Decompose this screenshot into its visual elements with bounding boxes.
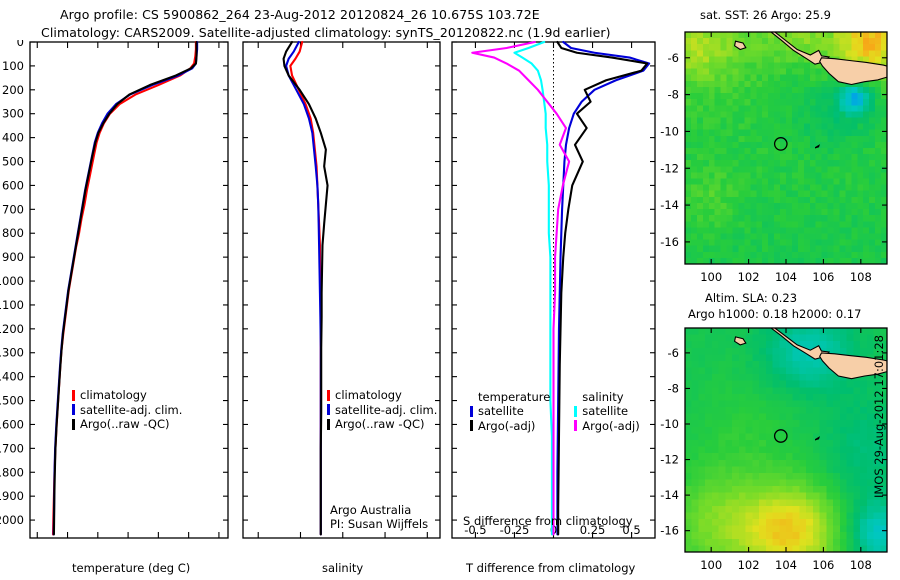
legend-item: satellite-adj. clim. [72,403,182,418]
map-cell [697,221,704,228]
map-cell [746,433,753,440]
map-cell [804,148,811,155]
map-cell [721,69,728,76]
map-cell [810,154,817,161]
map-cell [773,361,780,368]
map-cell [759,499,766,506]
map-cell [712,354,719,361]
map-cell [697,32,704,39]
map-cell [863,160,870,167]
map-cell [860,440,867,447]
map-cell [752,368,759,375]
map-cell [779,499,786,506]
map-cell [833,381,840,388]
map-cell [773,512,780,519]
map-cell [685,172,692,179]
map-cell [750,172,757,179]
map-cell [768,124,775,131]
map-cell [685,539,692,546]
map-cell [840,532,847,539]
map-cell [851,252,858,259]
map-cell [705,480,712,487]
map-cell [691,160,698,167]
map-cell [721,166,728,173]
map-cell [853,387,860,394]
map-cell [698,341,705,348]
map-cell [853,433,860,440]
map-cell [715,179,722,186]
map-cell [839,191,846,198]
map-cell [828,154,835,161]
map-cell [860,493,867,500]
map-cell [766,499,773,506]
map-cell [712,480,719,487]
map-cell [709,117,716,124]
map-cell [756,252,763,259]
map-cell [766,361,773,368]
map-cell [756,105,763,112]
map-cell [804,246,811,253]
map-cell [709,252,716,259]
map-cell [833,433,840,440]
map-cell [732,473,739,480]
map-cell [727,111,734,118]
map-cell [705,440,712,447]
map-cell [826,512,833,519]
map-cell [845,209,852,216]
map-cell [860,427,867,434]
map-cell [750,166,757,173]
map-cell [847,466,854,473]
map-cell [697,99,704,106]
map-cell [810,227,817,234]
map-cell [840,420,847,427]
map-cell [853,440,860,447]
map-cell [820,374,827,381]
map-cell [813,381,820,388]
map-cell [828,117,835,124]
map-cell [762,117,769,124]
legend-group-temperature: temperature satellite Argo(-adj) [470,390,550,433]
map-cell [833,493,840,500]
map-cell [727,240,734,247]
map-cell [697,63,704,70]
map-cell [698,394,705,401]
map-cell [863,166,870,173]
map-cell [860,335,867,342]
map-cell [685,493,692,500]
map-cell [822,172,829,179]
map-cell [786,105,793,112]
y-tick-label: 1100 [0,298,24,312]
map-cell [840,460,847,467]
map-cell [762,191,769,198]
map-cell [768,252,775,259]
map-cell [774,252,781,259]
map-cell [773,414,780,421]
y-tick-label: 1200 [0,322,24,336]
map-cell [806,335,813,342]
map-cell [863,221,870,228]
map-cell [863,154,870,161]
map-cell [752,493,759,500]
map-y-tick-label: -14 [660,198,679,212]
map-cell [685,532,692,539]
map-cell [756,191,763,198]
map-cell [725,414,732,421]
map-cell [697,44,704,51]
map-cell [786,407,793,414]
map-cell [744,148,751,155]
map-cell [691,191,698,198]
map-cell [853,427,860,434]
map-cell [806,368,813,375]
map-cell [703,63,710,70]
map-cell [875,81,882,88]
map-cell [806,532,813,539]
map-cell [847,394,854,401]
map-cell [845,154,852,161]
map-cell [768,191,775,198]
map-cell [834,191,841,198]
y-tick-label: 1900 [0,489,24,503]
map-cell [860,512,867,519]
map-cell [727,185,734,192]
map-cell [750,50,757,57]
map-cell [820,381,827,388]
map-cell [762,69,769,76]
map-cell [732,512,739,519]
map-cell [733,197,740,204]
map-cell [779,453,786,460]
map-cell [732,361,739,368]
map-cell [752,341,759,348]
map-cell [851,179,858,186]
map-cell [851,166,858,173]
map-x-tick-label: 100 [700,558,722,572]
map-cell [860,420,867,427]
map-cell [746,466,753,473]
map-cell [768,38,775,45]
map-cell [756,221,763,228]
map-cell [759,348,766,355]
map-cell [792,172,799,179]
map-cell [705,400,712,407]
map-cell [756,111,763,118]
map-sst-plot: 100102104106108-6-8-10-12-14-16 [655,24,900,294]
map-cell [768,179,775,186]
map-cell [857,148,864,155]
map-cell [744,81,751,88]
map-cell [703,56,710,63]
map-cell [691,154,698,161]
map-cell [813,440,820,447]
map-cell [733,240,740,247]
map-cell [779,400,786,407]
map-cell [691,32,698,39]
map-cell [727,172,734,179]
map-cell [867,519,874,526]
map-cell [768,215,775,222]
map-cell [762,203,769,210]
map-cell [804,185,811,192]
map-cell [721,111,728,118]
map-cell [759,400,766,407]
map-cell [691,93,698,100]
map-cell [712,368,719,375]
map-cell [715,56,722,63]
map-cell [756,160,763,167]
map-cell [851,87,858,94]
map-cell [806,361,813,368]
map-cell [804,166,811,173]
temperature-panel: 0100200300400500600700800900100011001200… [0,40,240,540]
map-cell [768,227,775,234]
map-cell [768,148,775,155]
map-cell [739,506,746,513]
map-cell [857,221,864,228]
map-cell [738,105,745,112]
map-cell [774,215,781,222]
map-cell [756,136,763,143]
map-cell [698,374,705,381]
map-cell [810,130,817,137]
map-cell [685,335,692,342]
map-cell [744,252,751,259]
map-cell [709,172,716,179]
map-cell [813,539,820,546]
map-cell [738,136,745,143]
map-cell [834,44,841,51]
map-cell [727,93,734,100]
map-cell [752,374,759,381]
map-cell [715,99,722,106]
map-cell [786,154,793,161]
map-cell [822,38,829,45]
y-tick-label: 1800 [0,465,24,479]
map-cell [793,466,800,473]
map-cell [875,130,882,137]
map-cell [863,215,870,222]
map-sla-panel: 100102104106108-6-8-10-12-14-16 [655,320,900,580]
map-cell [793,407,800,414]
map-cell [851,233,858,240]
map-cell [779,447,786,454]
map-cell [739,407,746,414]
map-cell [826,499,833,506]
map-cell [698,519,705,526]
map-cell [709,136,716,143]
map-cell [759,414,766,421]
map-cell [739,361,746,368]
map-cell [685,63,692,70]
legend-item: climatology [327,388,437,403]
map-cell [804,81,811,88]
map-cell [860,407,867,414]
map-cell [780,154,787,161]
map-cell [851,240,858,247]
map-cell [759,335,766,342]
map-cell [712,460,719,467]
map-cell [744,130,751,137]
y-tick-label: 2000 [0,513,24,527]
map-cell [813,473,820,480]
map-cell [869,32,876,39]
map-cell [816,136,823,143]
map-cell [725,453,732,460]
map-cell [685,519,692,526]
map-cell [762,233,769,240]
map-cell [816,81,823,88]
map-cell [703,209,710,216]
map-sla-title-line1: Altim. SLA: 0.23 [705,291,797,305]
map-cell [739,512,746,519]
map-cell [834,179,841,186]
map-cell [860,526,867,533]
map-cell [826,526,833,533]
map-cell [816,124,823,131]
map-cell [816,185,823,192]
map-cell [816,221,823,228]
map-cell [813,407,820,414]
map-cell [703,240,710,247]
map-cell [853,420,860,427]
map-cell [875,99,882,106]
map-cell [768,81,775,88]
map-cell [779,526,786,533]
map-cell [762,197,769,204]
map-cell [863,50,870,57]
map-cell [804,44,811,51]
map-cell [685,414,692,421]
map-cell [806,394,813,401]
map-cell [712,473,719,480]
map-cell [786,493,793,500]
map-cell [857,160,864,167]
map-cell [834,227,841,234]
map-cell [840,480,847,487]
map-cell [869,99,876,106]
map-cell [813,493,820,500]
map-cell [839,209,846,216]
map-cell [705,427,712,434]
map-cell [709,240,716,247]
map-cell [820,526,827,533]
map-cell [692,466,699,473]
map-cell [813,453,820,460]
map-cell [863,44,870,51]
map-cell [845,172,852,179]
map-cell [719,414,726,421]
map-cell [773,466,780,473]
map-cell [774,56,781,63]
map-cell [709,56,716,63]
map-y-tick-label: -8 [668,381,679,395]
map-cell [768,246,775,253]
map-cell [816,69,823,76]
map-cell [786,381,793,388]
map-cell [820,400,827,407]
map-cell [793,473,800,480]
map-cell [759,368,766,375]
map-cell [733,93,740,100]
map-cell [813,328,820,335]
map-cell [709,185,716,192]
map-cell [804,69,811,76]
map-cell [705,368,712,375]
map-cell [828,136,835,143]
map-cell [799,427,806,434]
map-cell [826,420,833,427]
map-cell [732,499,739,506]
map-cell [857,246,864,253]
map-cell [752,512,759,519]
map-cell [820,335,827,342]
map-cell [822,209,829,216]
map-cell [847,341,854,348]
map-cell [792,105,799,112]
map-cell [697,227,704,234]
map-cell [780,246,787,253]
map-cell [793,335,800,342]
map-cell [721,191,728,198]
map-cell [869,191,876,198]
map-cell [816,209,823,216]
map-cell [834,166,841,173]
map-cell [845,233,852,240]
map-cell [851,148,858,155]
map-cell [762,252,769,259]
map-cell [863,117,870,124]
map-cell [798,63,805,70]
map-cell [721,227,728,234]
map-cell [739,387,746,394]
map-cell [715,105,722,112]
map-cell [847,381,854,388]
map-cell [822,124,829,131]
map-cell [792,75,799,82]
map-cell [727,215,734,222]
map-cell [738,209,745,216]
map-cell [766,400,773,407]
map-cell [750,38,757,45]
map-cell [867,526,874,533]
map-cell [847,400,854,407]
map-cell [875,197,882,204]
map-cell [721,197,728,204]
map-cell [810,124,817,131]
map-cell [792,227,799,234]
map-cell [810,203,817,210]
map-cell [813,466,820,473]
map-cell [851,160,858,167]
map-cell [691,117,698,124]
map-cell [703,142,710,149]
map-cell [721,136,728,143]
map-cell [697,124,704,131]
map-cell [697,148,704,155]
map-cell [703,111,710,118]
map-cell [750,93,757,100]
map-cell [779,440,786,447]
map-cell [750,32,757,39]
map-cell [739,493,746,500]
map-cell [744,136,751,143]
map-cell [719,506,726,513]
map-cell [733,142,740,149]
map-cell [806,526,813,533]
map-cell [703,233,710,240]
